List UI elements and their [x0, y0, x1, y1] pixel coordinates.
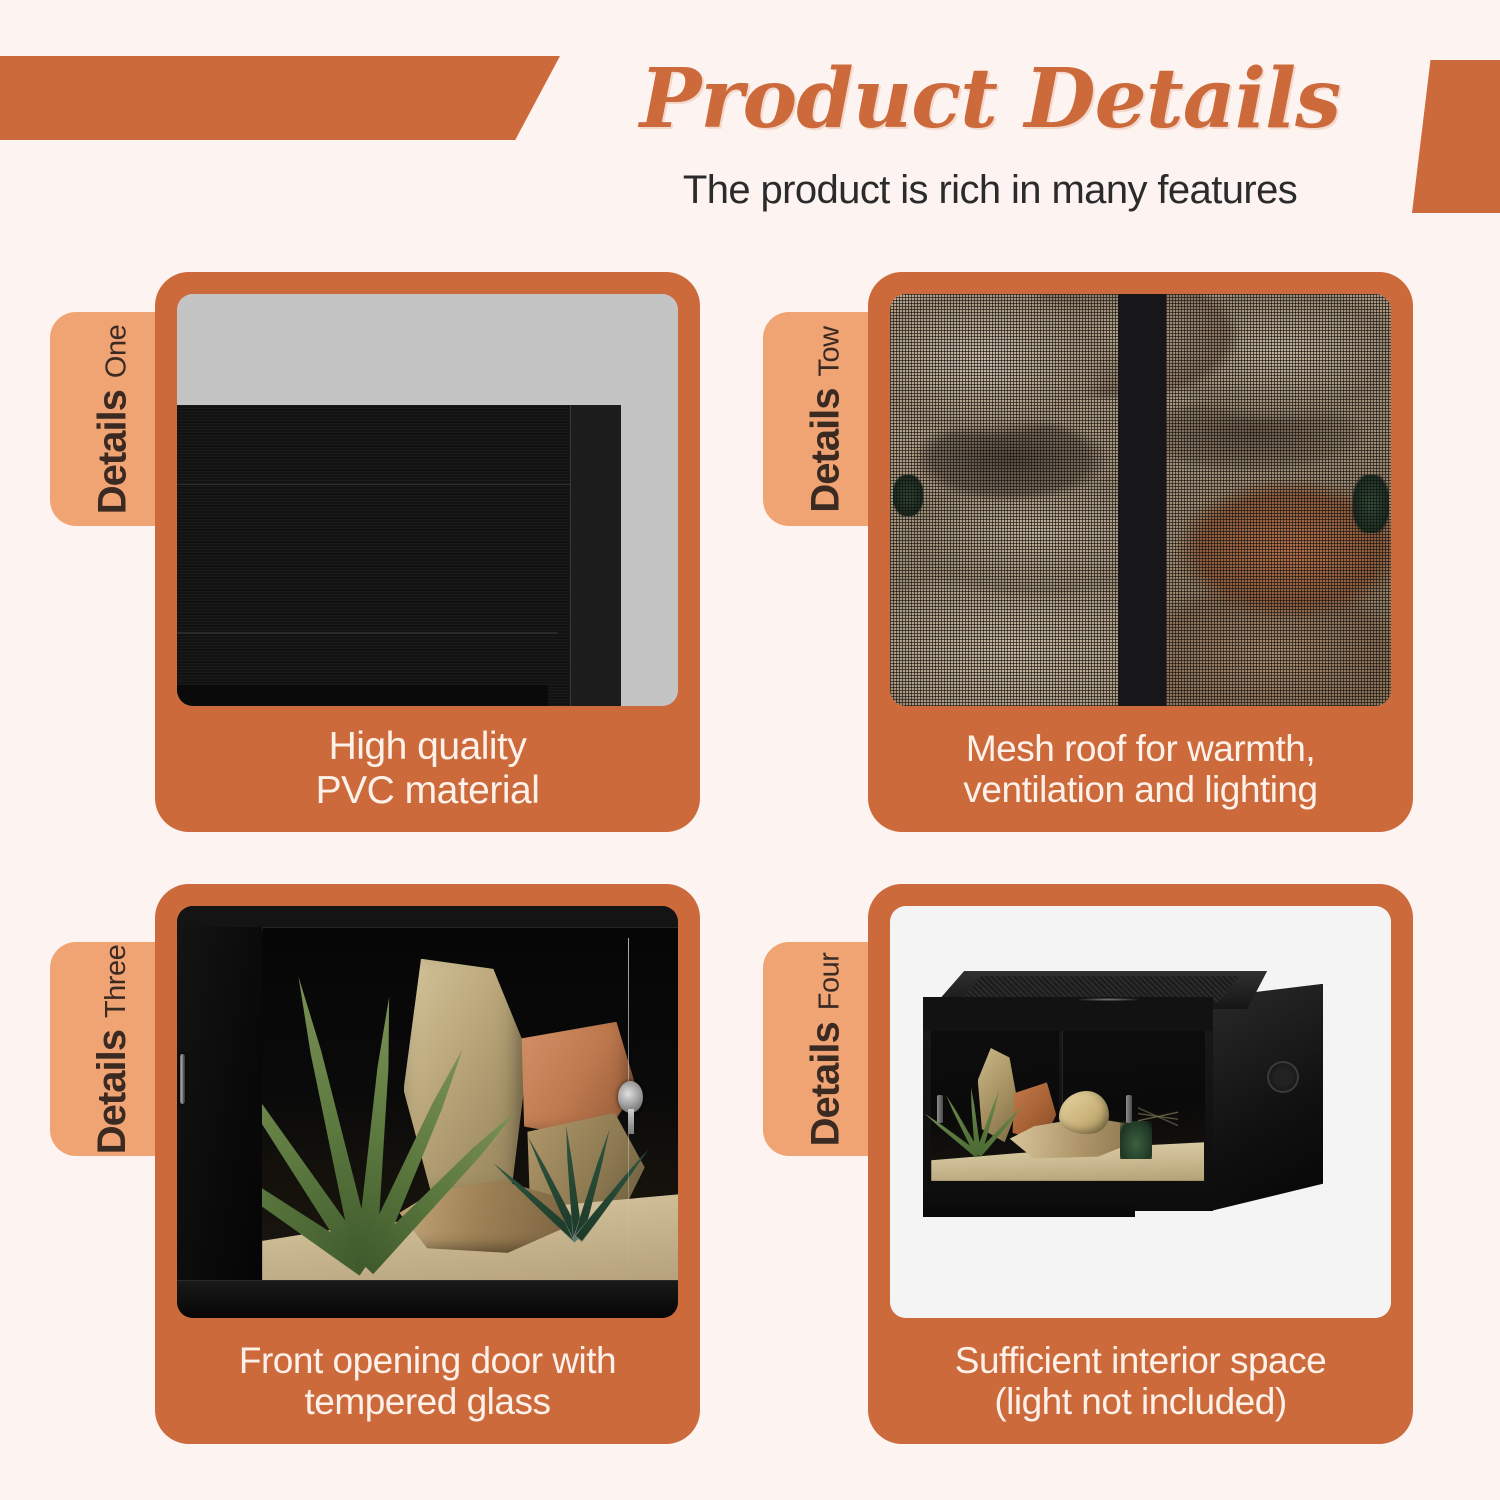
header-banner-right — [1412, 60, 1500, 213]
detail-card-two-caption-text: Mesh roof for warmth, ventilation and li… — [963, 728, 1317, 811]
detail-card-two: Mesh roof for warmth, ventilation and li… — [868, 272, 1413, 832]
detail-tab-four-label: Details — [804, 1022, 849, 1146]
door-handle-right-icon — [1126, 1095, 1132, 1123]
detail-tab-three-index: Three — [101, 944, 134, 1017]
detail-card-two-caption: Mesh roof for warmth, ventilation and li… — [868, 706, 1413, 832]
detail-card-three: Front opening door with tempered glass — [155, 884, 700, 1444]
door-lock-pin — [628, 1109, 634, 1134]
door-handle-left-icon — [937, 1095, 943, 1123]
pvc-seam-upper — [177, 484, 570, 485]
caption-line-2: PVC material — [316, 769, 540, 812]
detail-card-one-caption: High quality PVC material — [155, 706, 700, 832]
enclosure-base — [923, 1207, 1135, 1218]
detail-tab-four-index: Four — [814, 952, 847, 1010]
caption-line-1: Sufficient interior space — [955, 1340, 1326, 1381]
mesh-roof-photo — [890, 294, 1391, 706]
detail-card-four-caption-text: Sufficient interior space (light not inc… — [955, 1340, 1326, 1423]
detail-tab-one-text: Details One — [91, 324, 136, 514]
brand-logo-icon — [1079, 998, 1137, 1001]
dry-grass-decor — [1138, 1082, 1179, 1146]
zebra-haworthia-plant — [528, 1120, 628, 1239]
aloe-plant — [270, 966, 461, 1267]
pvc-bottom-rail — [177, 685, 548, 706]
enclosure-front-header — [923, 997, 1214, 1031]
caption-line-1: High quality — [329, 725, 527, 768]
detail-tab-three-text: Details Three — [91, 944, 136, 1153]
enclosure-bottom-rail — [177, 1280, 678, 1318]
terrarium-enclosure — [923, 997, 1324, 1211]
door-lock-icon — [618, 1081, 643, 1113]
glass-door-left-panel — [177, 927, 263, 1281]
page-header: Product Details The product is rich in m… — [0, 0, 1500, 240]
front-door-photo — [177, 906, 678, 1318]
detail-card-one: High quality PVC material — [155, 272, 700, 832]
door-handle-icon — [180, 1054, 185, 1104]
pvc-panel-texture — [177, 405, 570, 706]
detail-tab-one-index: One — [101, 324, 134, 377]
terrarium-interior — [262, 931, 678, 1281]
caption-line-1: Front opening door with — [239, 1340, 616, 1381]
detail-tab-two-text: Details Tow — [804, 326, 849, 512]
caption-line-2: ventilation and lighting — [963, 769, 1317, 810]
enclosure-side-panel — [1211, 984, 1323, 1211]
enclosure-photo-background — [890, 906, 1391, 1318]
pvc-side-edge — [570, 405, 621, 706]
header-banner-left — [0, 56, 560, 140]
pvc-corner-photo — [177, 294, 678, 706]
enclosure-top-rail — [177, 906, 678, 928]
enclosure-front-face — [923, 997, 1214, 1211]
full-enclosure-photo — [890, 906, 1391, 1318]
page-subtitle: The product is rich in many features — [560, 168, 1420, 213]
detail-card-three-caption-text: Front opening door with tempered glass — [239, 1340, 616, 1423]
pvc-seam-lower — [177, 632, 558, 634]
caption-line-1: Mesh roof for warmth, — [966, 728, 1315, 769]
page-title: Product Details — [560, 58, 1420, 140]
detail-card-four: Sufficient interior space (light not inc… — [868, 884, 1413, 1444]
mesh-center-bar — [1118, 294, 1166, 706]
front-door-scene — [177, 906, 678, 1318]
detail-tab-one-label: Details — [91, 390, 136, 514]
detail-tab-two-index: Tow — [814, 326, 847, 376]
mesh-photo-background — [890, 294, 1391, 706]
detail-card-three-caption: Front opening door with tempered glass — [155, 1318, 700, 1444]
detail-tab-two-label: Details — [804, 388, 849, 512]
aloe-plant — [952, 1082, 1004, 1155]
bearded-dragon — [1059, 1091, 1108, 1134]
detail-card-one-caption-text: High quality PVC material — [316, 725, 540, 812]
side-vent-icon — [1267, 1061, 1299, 1093]
caption-line-2: (light not included) — [994, 1381, 1286, 1422]
detail-tab-four-text: Details Four — [804, 952, 849, 1146]
detail-tab-three-label: Details — [91, 1030, 136, 1154]
detail-card-four-caption: Sufficient interior space (light not inc… — [868, 1318, 1413, 1444]
caption-line-2: tempered glass — [305, 1381, 551, 1422]
